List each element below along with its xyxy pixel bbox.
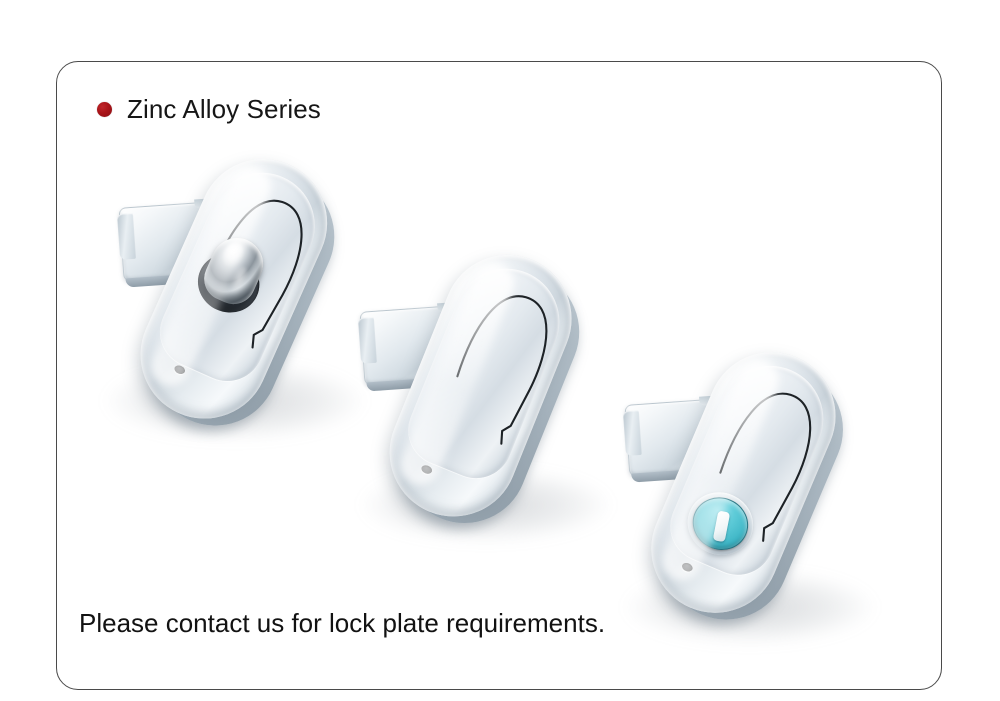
lock-plate-lip: [623, 410, 642, 456]
product-lock-3: [585, 330, 915, 660]
lock-1-pinhole: [173, 364, 186, 376]
lock-2-handle: [398, 253, 576, 489]
lock-plate-note: Please contact us for lock plate require…: [79, 608, 605, 639]
product-card: Zinc Alloy Series Please contact us for …: [56, 61, 942, 690]
lock-3-key-slot: [713, 510, 731, 542]
section-heading-label: Zinc Alloy Series: [127, 94, 321, 125]
product-image-page: Zinc Alloy Series Please contact us for …: [0, 0, 1000, 701]
lock-3-pinhole: [681, 561, 694, 573]
section-heading: Zinc Alloy Series: [97, 94, 321, 125]
lock-plate-lip: [117, 213, 136, 260]
knob-highlight-secondary: [225, 264, 252, 298]
lock-2-pinhole: [420, 464, 433, 476]
lock-3-handle: [659, 349, 839, 586]
lock-plate-lip: [358, 317, 377, 364]
lock-3-body: [631, 332, 855, 632]
product-photo: [57, 62, 942, 690]
red-dot-icon: [97, 102, 112, 117]
